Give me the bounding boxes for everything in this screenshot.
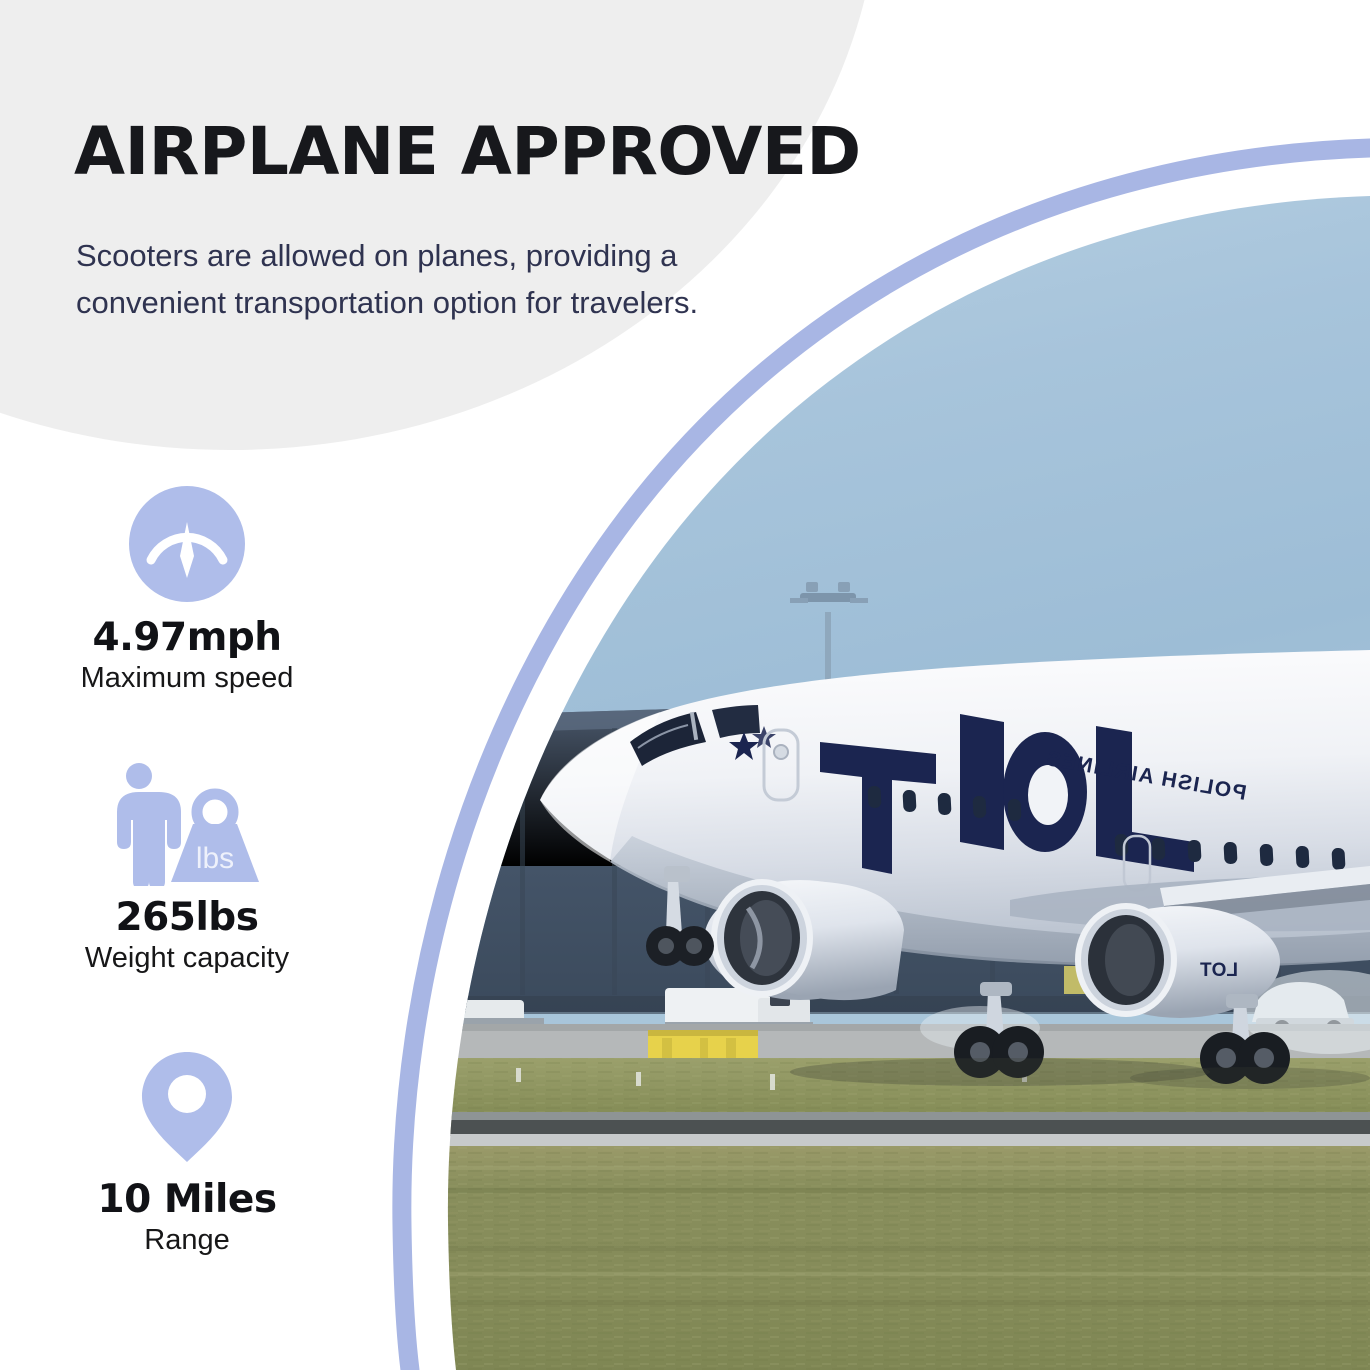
stat-value: 265lbs: [22, 898, 352, 939]
stat-label: Maximum speed: [22, 663, 352, 695]
page-title: AIRPLANE APPROVED: [74, 119, 861, 185]
stat-value: 10 Miles: [22, 1180, 352, 1221]
stat-value: 4.97mph: [22, 618, 352, 659]
stat-label: Weight capacity: [22, 943, 352, 975]
stat-label: Range: [22, 1225, 352, 1257]
map-pin-icon: [22, 1042, 352, 1170]
infographic-root: POLISH AIRLINES: [0, 0, 1370, 1370]
speedometer-icon: [22, 480, 352, 608]
weight-unit-label: lbs: [196, 842, 234, 875]
stat-maximum-speed: 4.97mph Maximum speed: [22, 480, 352, 695]
stat-weight-capacity: lbs 265lbs Weight capacity: [22, 760, 352, 975]
stat-range: 10 Miles Range: [22, 1042, 352, 1257]
page-subtitle: Scooters are allowed on planes, providin…: [76, 232, 756, 326]
content-layer: AIRPLANE APPROVED Scooters are allowed o…: [0, 0, 1370, 1370]
person-weight-icon: lbs: [22, 760, 352, 888]
